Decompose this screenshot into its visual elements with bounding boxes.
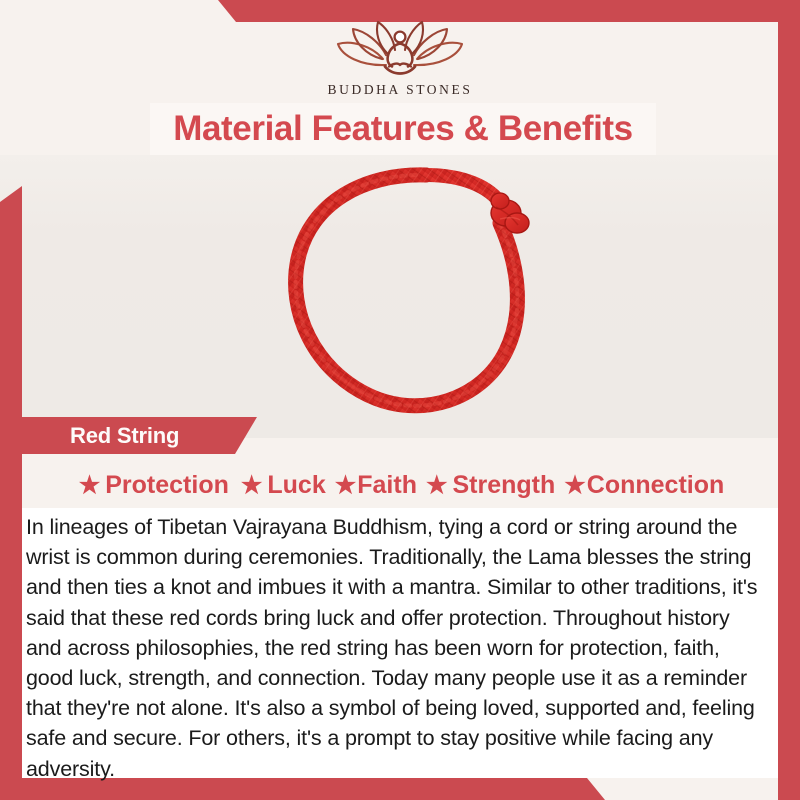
red-string-bracelet-image [268, 161, 558, 423]
benefit-label: Faith [357, 471, 417, 500]
benefit-label: Luck [267, 471, 325, 500]
description-text: In lineages of Tibetan Vajrayana Buddhis… [26, 512, 762, 784]
benefit-item-strength: ★ Strength [426, 471, 555, 500]
benefit-label: Protection [105, 471, 229, 500]
benefit-item-protection: ★ Protection [79, 471, 229, 500]
frame-accent-left [0, 186, 22, 800]
title-banner: Material Features & Benefits [150, 103, 656, 155]
star-icon: ★ [335, 474, 357, 498]
benefits-row: ★ Protection ★ Luck ★ Faith ★ Strength ★… [22, 463, 778, 508]
benefit-item-faith: ★ Faith [335, 471, 417, 500]
frame-accent-right [778, 0, 800, 800]
section-label-text: Red String [70, 423, 179, 449]
star-icon: ★ [79, 474, 101, 498]
star-icon: ★ [241, 474, 263, 498]
star-icon: ★ [426, 474, 448, 498]
page-title: Material Features & Benefits [173, 109, 633, 149]
brand-logo: BUDDHA STONES [0, 14, 800, 98]
product-photo [0, 155, 800, 438]
brand-name: BUDDHA STONES [0, 82, 800, 98]
lotus-meditation-figure-icon [325, 14, 475, 80]
benefit-label: Strength [452, 471, 555, 500]
star-icon: ★ [564, 474, 586, 498]
section-label-tab: Red String [22, 417, 257, 454]
benefit-item-luck: ★ Luck [241, 471, 326, 500]
description-panel: In lineages of Tibetan Vajrayana Buddhis… [22, 508, 778, 778]
poster-canvas: BUDDHA STONES Material Features & Benefi… [0, 0, 800, 800]
benefit-label: Connection [587, 471, 725, 500]
benefit-item-connection: ★ Connection [564, 471, 724, 500]
